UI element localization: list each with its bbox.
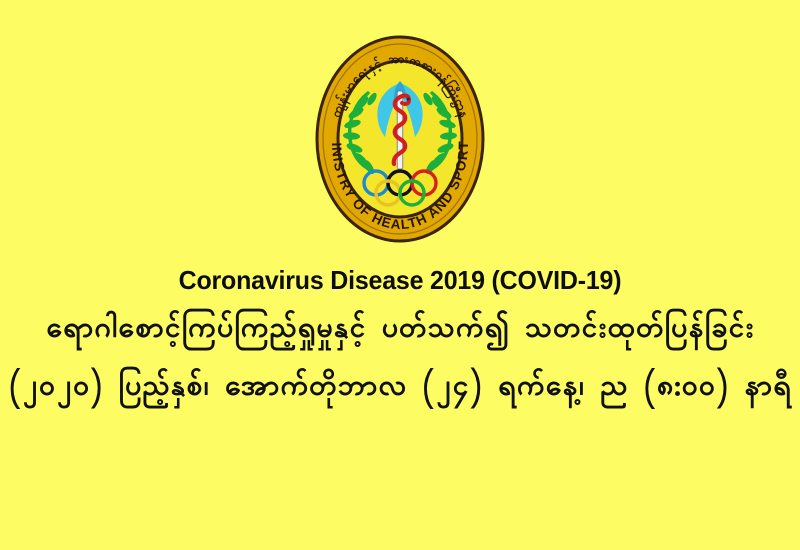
announcement-text-block: Coronavirus Disease 2019 (COVID-19) ရောဂ… xyxy=(0,267,800,406)
subject-line: ရောဂါစောင့်ကြပ်ကြည့်ရှုမှုနှင့် ပတ်သက်၍ … xyxy=(0,311,800,349)
announcement-page: MINISTRY OF HEALTH AND SPORTS ကျန်းမာရေး… xyxy=(0,0,800,550)
datetime-line: (၂၀၂၀) ပြည့်နှစ်၊ အောက်တိုဘာလ (၂၄) ရက်နေ… xyxy=(0,369,800,407)
page-title: Coronavirus Disease 2019 (COVID-19) xyxy=(16,267,784,294)
ministry-seal: MINISTRY OF HEALTH AND SPORTS ကျန်းမာရေး… xyxy=(305,33,495,245)
